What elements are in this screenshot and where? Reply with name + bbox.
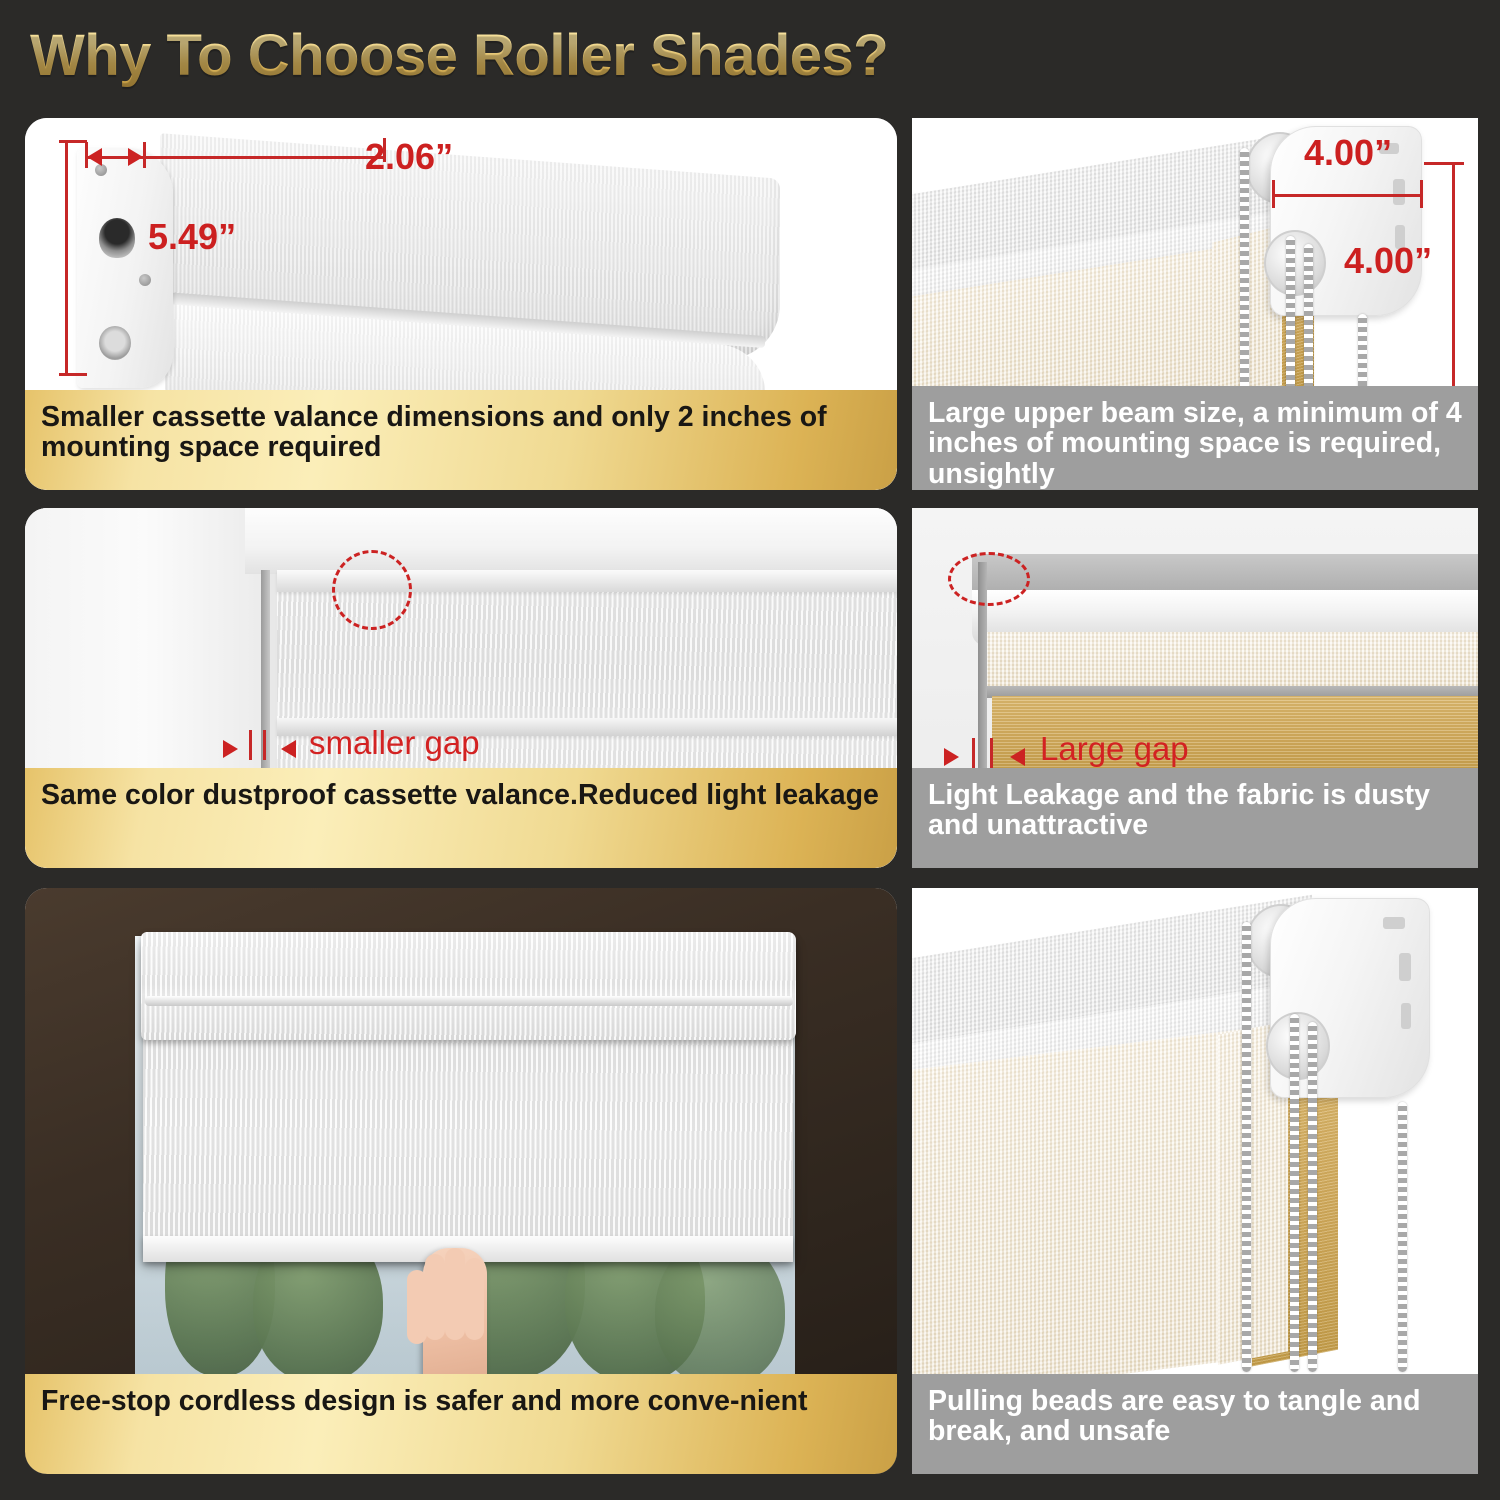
gap-label-smaller: smaller gap bbox=[309, 724, 480, 762]
panel-cassette-dimensions: 2.06” 5.49” 5.49” Smaller cassette valan… bbox=[25, 118, 897, 490]
caption-cassette-dimensions: Smaller cassette valance dimensions and … bbox=[25, 390, 897, 490]
arrow-left-icon bbox=[1010, 748, 1025, 766]
page-title: Why To Choose Roller Shades? bbox=[30, 22, 888, 89]
panel-smaller-gap: smaller gap Same color dustproof cassett… bbox=[25, 508, 897, 868]
panel-large-gap: Large gap Light Leakage and the fabric i… bbox=[912, 508, 1478, 868]
highlight-circle-gap bbox=[948, 552, 1030, 606]
bead-chain bbox=[1242, 922, 1251, 1372]
bead-chain bbox=[1290, 1014, 1299, 1372]
panel-pulling-beads: Pulling beads are easy to tangle and bre… bbox=[912, 888, 1478, 1474]
panel-cordless-design: Free-stop cordless design is safer and m… bbox=[25, 888, 897, 1474]
infographic-root: Why To Choose Roller Shades? 2.06” bbox=[0, 0, 1500, 1500]
caption-upper-beam-dimensions: Large upper beam size, a minimum of 4 in… bbox=[912, 386, 1478, 490]
dimension-label-beam-height: 4.00” bbox=[1344, 240, 1432, 282]
arrow-right-icon bbox=[944, 748, 959, 766]
arrow-right-icon bbox=[223, 740, 238, 758]
caption-cordless-design: Free-stop cordless design is safer and m… bbox=[25, 1374, 897, 1474]
arrow-left-icon bbox=[281, 740, 296, 758]
caption-pulling-beads: Pulling beads are easy to tangle and bre… bbox=[912, 1374, 1478, 1474]
cassette-valance bbox=[141, 932, 796, 1040]
dimension-label-beam-width: 4.00” bbox=[1304, 132, 1392, 174]
gap-label-large: Large gap bbox=[1040, 730, 1189, 768]
caption-smaller-gap: Same color dustproof cassette valance.Re… bbox=[25, 768, 897, 868]
caption-large-gap: Light Leakage and the fabric is dusty an… bbox=[912, 768, 1478, 868]
bead-chain bbox=[1398, 1102, 1407, 1372]
highlight-circle-gap bbox=[332, 550, 412, 630]
bead-chain bbox=[1308, 1022, 1317, 1372]
cassette-end-cap bbox=[77, 148, 173, 388]
panel-upper-beam-dimensions: 4.00” 4.00” Large upper beam size, a min… bbox=[912, 118, 1478, 490]
dimension-label-width: 2.06” bbox=[365, 136, 453, 178]
